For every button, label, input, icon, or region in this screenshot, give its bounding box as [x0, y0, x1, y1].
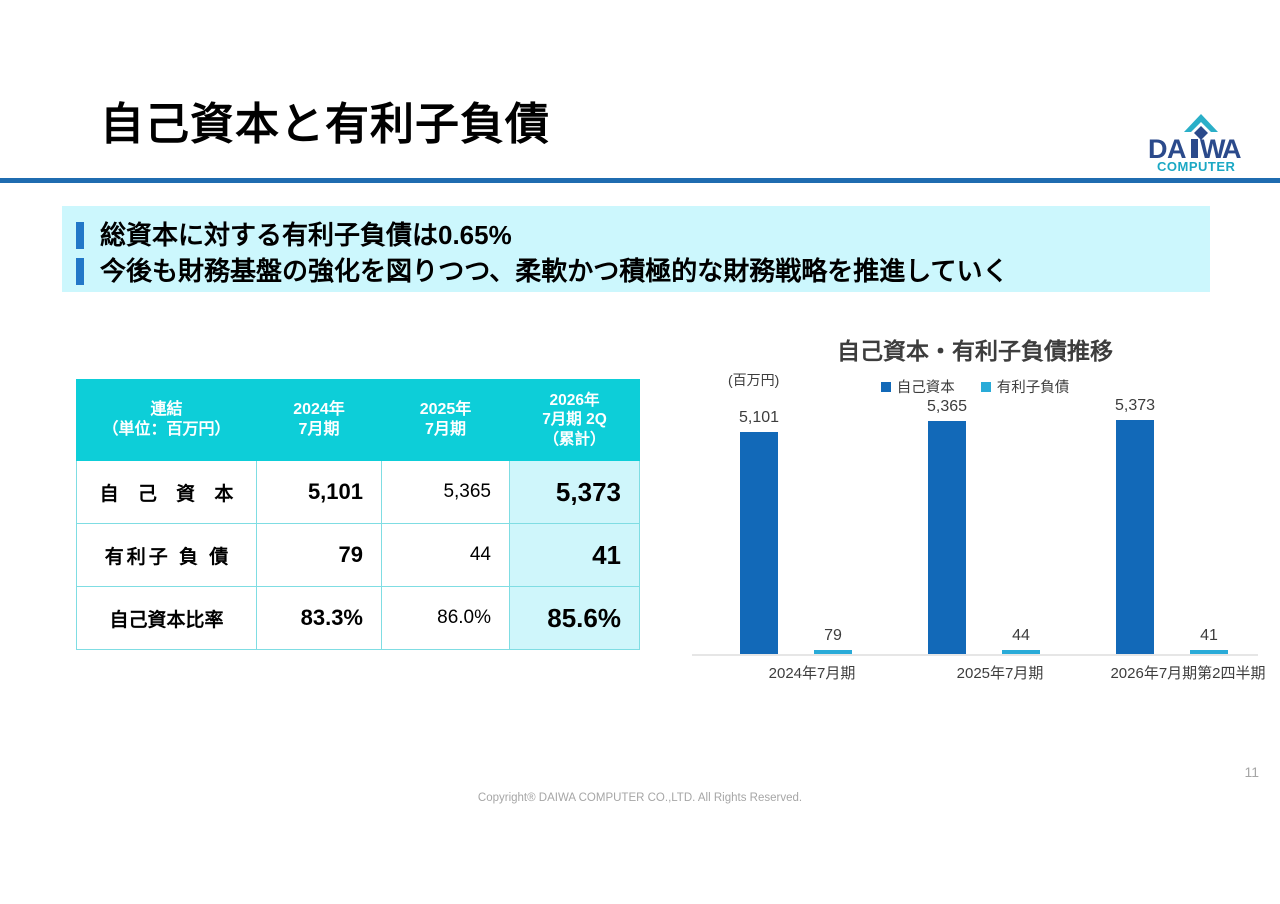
- header-divider: [0, 178, 1280, 183]
- row-label-interest-bearing-debt: 有利子 負 債: [77, 524, 257, 587]
- equity-ratio-fy2026-2q: 85.6%: [510, 587, 640, 650]
- bar-equity-2024: [740, 432, 778, 654]
- bar-debt-2024: [814, 650, 852, 654]
- slide-header: 自己資本と有利子負債 DA WA COMPUTER: [0, 0, 1280, 182]
- debt-fy2026-2q: 41: [510, 524, 640, 587]
- table-row: 有利子 負 債 79 44 41: [77, 524, 640, 587]
- equity-fy2026-2q: 5,373: [510, 461, 640, 524]
- column-header-fy2025-line1: 2025年: [382, 400, 509, 420]
- equity-fy2024: 5,101: [257, 461, 382, 524]
- equity-ratio-fy2024: 83.3%: [257, 587, 382, 650]
- page-title: 自己資本と有利子負債: [100, 103, 550, 147]
- table-body: 自 己 資 本 5,101 5,365 5,373 有利子 負 債 79 44 …: [77, 461, 640, 650]
- daiwa-computer-logo: DA WA COMPUTER: [1144, 108, 1262, 174]
- equity-debt-trend-chart: 自己資本・有利子負債推移 (百万円) 自己資本 有利子負債 5,101 79 5…: [690, 326, 1260, 696]
- table-row: 自己資本比率 83.3% 86.0% 85.6%: [77, 587, 640, 650]
- chart-x-axis-labels: 2024年7月期 2025年7月期 2026年7月期第2四半期: [690, 662, 1260, 688]
- bar-group-2024: 5,101 79: [724, 408, 900, 654]
- bar-value-equity-2025: 5,365: [909, 398, 985, 416]
- chart-baseline-axis: [692, 654, 1258, 656]
- bullet-marker-icon: [76, 222, 84, 249]
- equity-fy2025: 5,365: [382, 461, 510, 524]
- bar-group-2025: 5,365 44: [912, 408, 1088, 654]
- debt-fy2024: 79: [257, 524, 382, 587]
- bar-equity-2026: [1116, 420, 1154, 654]
- column-header-fy2026-line3: （累計）: [510, 430, 639, 449]
- x-axis-label-2024: 2024年7月期: [724, 662, 900, 683]
- legend-swatch-icon: [981, 382, 991, 392]
- page-number: 11: [1244, 764, 1259, 780]
- key-message-box: 総資本に対する有利子負債は0.65% 今後も財務基盤の強化を図りつつ、柔軟かつ積…: [62, 206, 1210, 292]
- financial-table: 連結 （単位：百万円） 2024年 7月期 2025年 7月期 2026年 7月…: [76, 379, 640, 650]
- column-header-consolidated-line2: （単位：百万円）: [77, 420, 256, 440]
- chart-plot-area: 5,101 79 5,365 44 5,373 41: [690, 408, 1260, 656]
- bar-value-debt-2025: 44: [983, 627, 1059, 645]
- table-row: 自 己 資 本 5,101 5,365 5,373: [77, 461, 640, 524]
- debt-fy2025: 44: [382, 524, 510, 587]
- svg-text:COMPUTER: COMPUTER: [1157, 159, 1236, 174]
- column-header-fy2026-line1: 2026年: [510, 391, 639, 410]
- table-header: 連結 （単位：百万円） 2024年 7月期 2025年 7月期 2026年 7月…: [77, 380, 640, 461]
- key-message-line-1: 総資本に対する有利子負債は0.65%: [76, 218, 512, 252]
- key-message-text-2: 今後も財務基盤の強化を図りつつ、柔軟かつ積極的な財務戦略を推進していく: [100, 258, 1008, 284]
- column-header-fy2025-line2: 7月期: [382, 420, 509, 440]
- row-label-equity: 自 己 資 本: [77, 461, 257, 524]
- bar-equity-2025: [928, 421, 966, 654]
- bar-debt-2025: [1002, 650, 1040, 654]
- legend-label-debt: 有利子負債: [997, 376, 1070, 397]
- x-axis-label-2026: 2026年7月期第2四半期: [1086, 662, 1280, 683]
- column-header-consolidated-line1: 連結: [77, 400, 256, 420]
- column-header-fy2025: 2025年 7月期: [382, 380, 510, 461]
- legend-item-equity: 自己資本: [881, 376, 955, 397]
- bar-value-equity-2026: 5,373: [1097, 397, 1173, 415]
- column-header-fy2024: 2024年 7月期: [257, 380, 382, 461]
- table-header-row: 連結 （単位：百万円） 2024年 7月期 2025年 7月期 2026年 7月…: [77, 380, 640, 461]
- column-header-fy2024-line2: 7月期: [257, 420, 381, 440]
- bar-value-debt-2026: 41: [1171, 627, 1247, 645]
- column-header-consolidated: 連結 （単位：百万円）: [77, 380, 257, 461]
- legend-item-debt: 有利子負債: [981, 376, 1070, 397]
- bar-group-2026: 5,373 41: [1100, 408, 1276, 654]
- x-axis-label-2025: 2025年7月期: [912, 662, 1088, 683]
- copyright-notice: Copyright® DAIWA COMPUTER CO.,LTD. All R…: [0, 792, 1280, 804]
- row-label-equity-ratio: 自己資本比率: [77, 587, 257, 650]
- key-message-text-1: 総資本に対する有利子負債は0.65%: [100, 222, 512, 248]
- bar-debt-2026: [1190, 650, 1228, 654]
- legend-label-equity: 自己資本: [897, 376, 955, 397]
- bar-value-equity-2024: 5,101: [721, 409, 797, 427]
- bar-value-debt-2024: 79: [795, 627, 871, 645]
- bullet-marker-icon: [76, 258, 84, 285]
- equity-ratio-fy2025: 86.0%: [382, 587, 510, 650]
- legend-swatch-icon: [881, 382, 891, 392]
- column-header-fy2026-2q: 2026年 7月期 2Q （累計）: [510, 380, 640, 461]
- column-header-fy2026-line2: 7月期 2Q: [510, 410, 639, 429]
- column-header-fy2024-line1: 2024年: [257, 400, 381, 420]
- key-message-line-2: 今後も財務基盤の強化を図りつつ、柔軟かつ積極的な財務戦略を推進していく: [76, 254, 1008, 288]
- logo-svg: DA WA COMPUTER: [1144, 108, 1262, 174]
- chart-legend: 自己資本 有利子負債: [690, 376, 1260, 397]
- chart-title: 自己資本・有利子負債推移: [690, 332, 1260, 366]
